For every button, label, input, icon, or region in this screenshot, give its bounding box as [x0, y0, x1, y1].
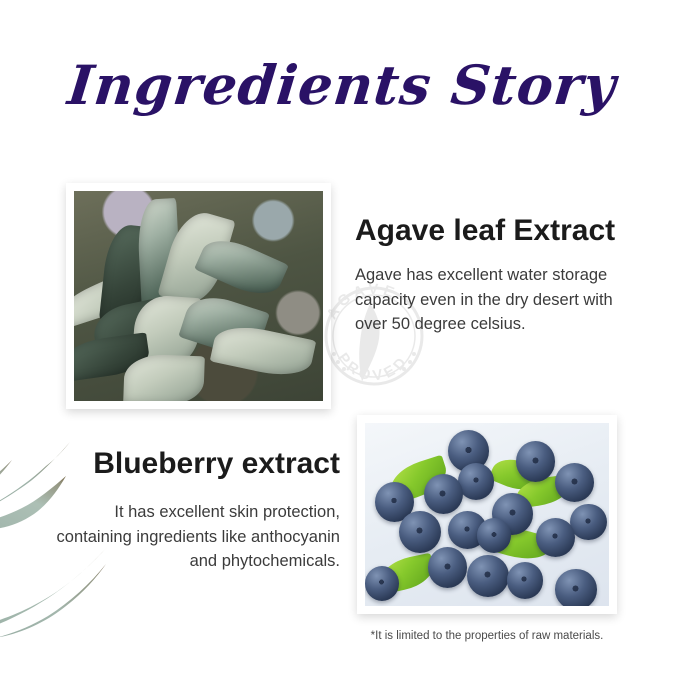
svg-text:PROVED: PROVED: [334, 350, 412, 385]
page-title: Ingredients Story: [64, 52, 611, 122]
ingredients-story-page: Ingredients Story: [0, 0, 679, 679]
blueberry-body-text: It has excellent skin protection, contai…: [40, 500, 340, 574]
blueberry-photo: [365, 423, 609, 606]
agave-heading: Agave leaf Extract: [355, 214, 615, 248]
blueberry-heading: Blueberry extract: [40, 447, 340, 481]
agave-photo: [74, 191, 323, 401]
footnote-text: *It is limited to the properties of raw …: [357, 629, 617, 644]
agave-photo-frame: [66, 183, 331, 409]
agave-body-text: Agave has excellent water storage capaci…: [355, 263, 635, 337]
blueberry-photo-frame: [357, 415, 617, 614]
